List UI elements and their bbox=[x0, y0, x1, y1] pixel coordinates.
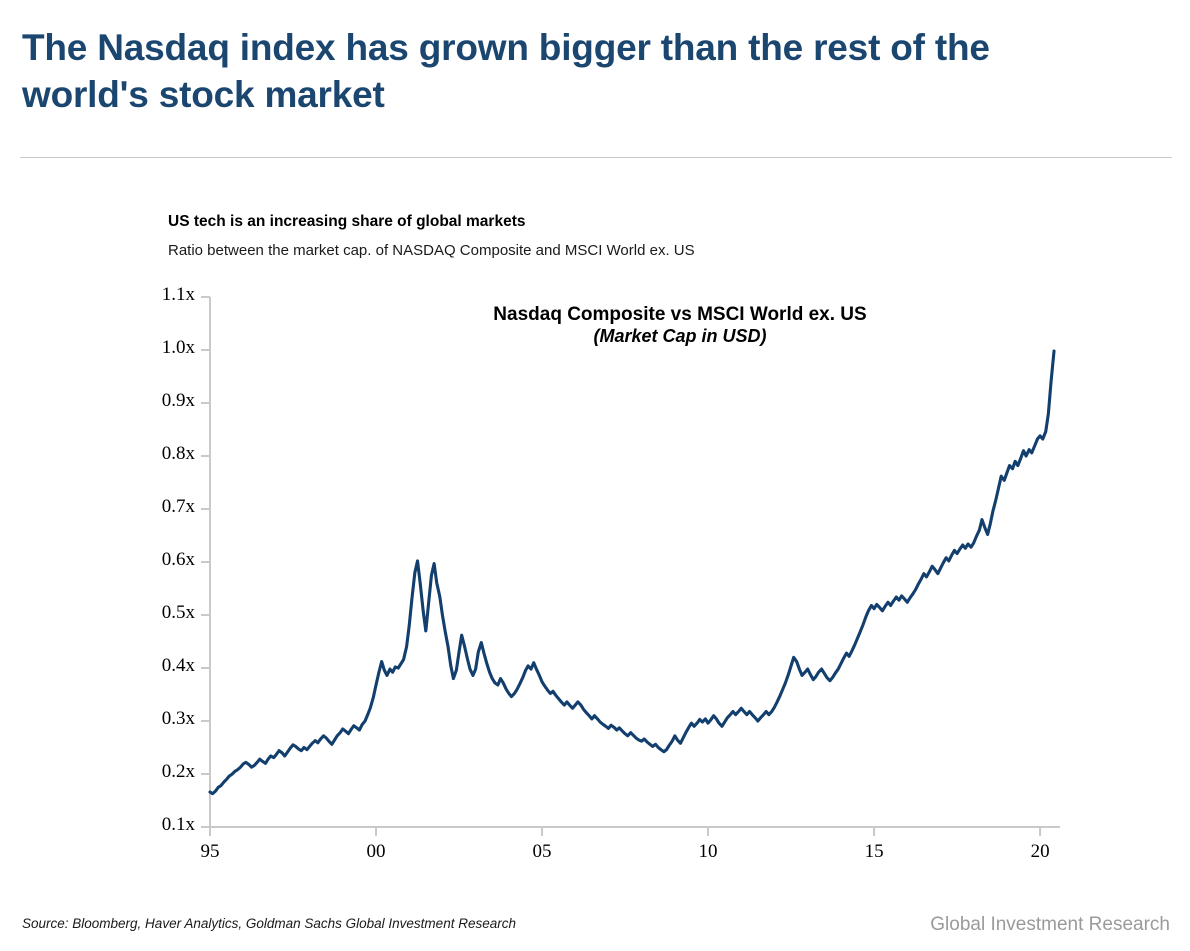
x-axis-label: 10 bbox=[678, 841, 738, 863]
y-axis-label: 0.5x bbox=[137, 602, 195, 624]
y-axis-label: 0.7x bbox=[137, 496, 195, 518]
y-axis-label: 0.3x bbox=[137, 708, 195, 730]
x-axis-label: 15 bbox=[844, 841, 904, 863]
y-axis-label: 0.4x bbox=[137, 655, 195, 677]
y-axis-label: 0.6x bbox=[137, 549, 195, 571]
y-axis-label: 0.8x bbox=[137, 443, 195, 465]
branding-label: Global Investment Research bbox=[930, 914, 1170, 936]
y-axis-label: 0.2x bbox=[137, 761, 195, 783]
chart-svg bbox=[0, 0, 1190, 951]
line-chart: 1.1x1.0x0.9x0.8x0.7x0.6x0.5x0.4x0.3x0.2x… bbox=[0, 0, 1190, 951]
y-axis-label: 0.9x bbox=[137, 390, 195, 412]
slide-page: The Nasdaq index has grown bigger than t… bbox=[0, 0, 1190, 951]
x-axis-label: 05 bbox=[512, 841, 572, 863]
y-axis-label: 0.1x bbox=[137, 814, 195, 836]
x-axis-label: 95 bbox=[180, 841, 240, 863]
y-axis-label: 1.1x bbox=[137, 284, 195, 306]
y-axis-label: 1.0x bbox=[137, 337, 195, 359]
x-axis-label: 00 bbox=[346, 841, 406, 863]
data-series-line bbox=[210, 351, 1054, 794]
source-note: Source: Bloomberg, Haver Analytics, Gold… bbox=[22, 916, 516, 931]
x-axis-label: 20 bbox=[1010, 841, 1070, 863]
